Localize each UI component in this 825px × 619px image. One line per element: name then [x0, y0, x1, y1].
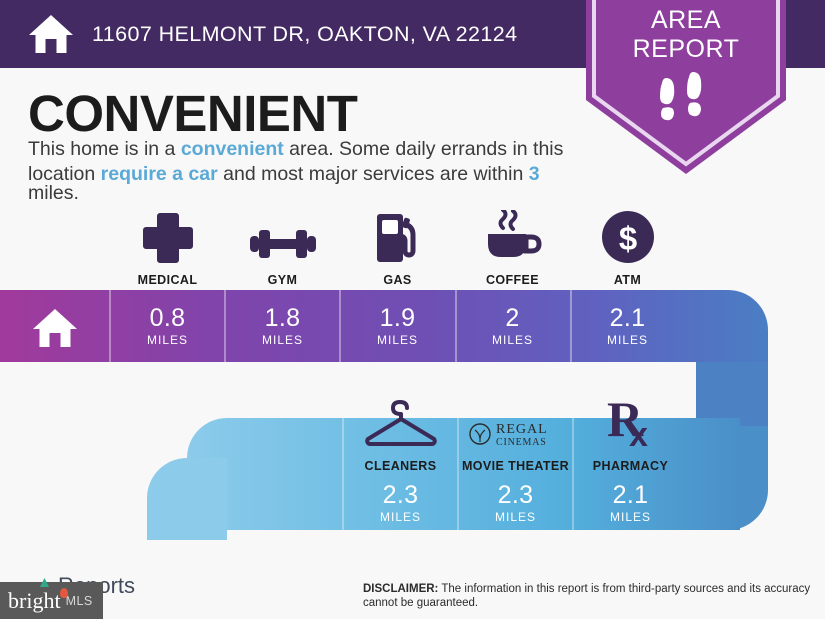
- category-medical: MEDICAL: [110, 210, 225, 287]
- svg-text:CINEMAS: CINEMAS: [496, 437, 547, 448]
- category-icon-row-1: MEDICAL GYM: [110, 210, 685, 287]
- svg-text:$: $: [618, 220, 636, 257]
- page-title: CONVENIENT: [28, 84, 357, 143]
- category-label: CLEANERS: [365, 459, 437, 473]
- summary-highlight-require-a-car: require a car: [101, 163, 218, 185]
- mls-teal-accent-icon: [40, 578, 49, 587]
- summary-highlight-convenient: convenient: [181, 138, 284, 160]
- summary-highlight-miles: 3: [529, 163, 540, 185]
- category-label: COFFEE: [486, 273, 539, 287]
- category-label: MEDICAL: [138, 273, 198, 287]
- category-label: GAS: [383, 273, 411, 287]
- summary-text: This home is in a convenient area. Some …: [28, 140, 588, 209]
- home-icon: [28, 12, 74, 56]
- mls-orange-accent-icon: [60, 588, 68, 598]
- category-atm: $ ATM: [570, 210, 685, 287]
- summary-l2-mid: and most major services are within: [218, 163, 529, 185]
- summary-l2-post: miles.: [28, 182, 79, 204]
- category-label: ATM: [614, 273, 641, 287]
- disclaimer-label: DISCLAIMER:: [363, 583, 438, 595]
- summary-line-1: This home is in a convenient area. Some …: [28, 140, 588, 160]
- svg-text:REGAL: REGAL: [496, 422, 548, 437]
- bright-mls-logo: bright MLS: [0, 582, 103, 619]
- property-address: 11607 HELMONT DR, OAKTON, VA 22124: [92, 22, 517, 47]
- gas-pump-icon: [373, 210, 423, 264]
- dumbbell-icon: [245, 210, 321, 264]
- medical-cross-icon: [141, 210, 195, 264]
- category-label: MOVIE THEATER: [462, 459, 569, 473]
- home-marker-icon: [32, 306, 78, 350]
- area-report-page: 11607 HELMONT DR, OAKTON, VA 22124 AREA …: [0, 0, 825, 619]
- regal-cinemas-logo: REGAL CINEMAS: [466, 396, 566, 450]
- category-cleaners: CLEANERS: [343, 396, 458, 473]
- svg-text:x: x: [629, 416, 648, 450]
- summary-l1-post: area. Some daily errands in this: [284, 138, 564, 160]
- category-gym: GYM: [225, 210, 340, 287]
- dollar-circle-icon: $: [601, 210, 655, 264]
- summary-line-2: location require a car and most major se…: [28, 165, 588, 204]
- category-label: PHARMACY: [593, 459, 668, 473]
- summary-l1-pre: This home is in a: [28, 138, 181, 160]
- footprints-icon: [586, 70, 786, 131]
- category-gas: GAS: [340, 210, 455, 287]
- category-icon-row-2: CLEANERS REGAL CINEMAS MOVIE THEATER R x…: [343, 396, 688, 473]
- category-label: GYM: [268, 273, 298, 287]
- category-movie-theater: REGAL CINEMAS MOVIE THEATER: [458, 396, 573, 473]
- area-report-badge: AREA REPORT: [586, 0, 786, 182]
- clothes-hanger-icon: [362, 396, 440, 450]
- disclaimer: DISCLAIMER: The information in this repo…: [363, 582, 813, 610]
- category-pharmacy: R x PHARMACY: [573, 396, 688, 473]
- mls-brand-name: bright: [8, 588, 61, 614]
- rx-icon: R x: [603, 396, 659, 450]
- category-coffee: COFFEE: [455, 210, 570, 287]
- coffee-cup-icon: [481, 210, 545, 264]
- mls-suffix: MLS: [66, 594, 93, 608]
